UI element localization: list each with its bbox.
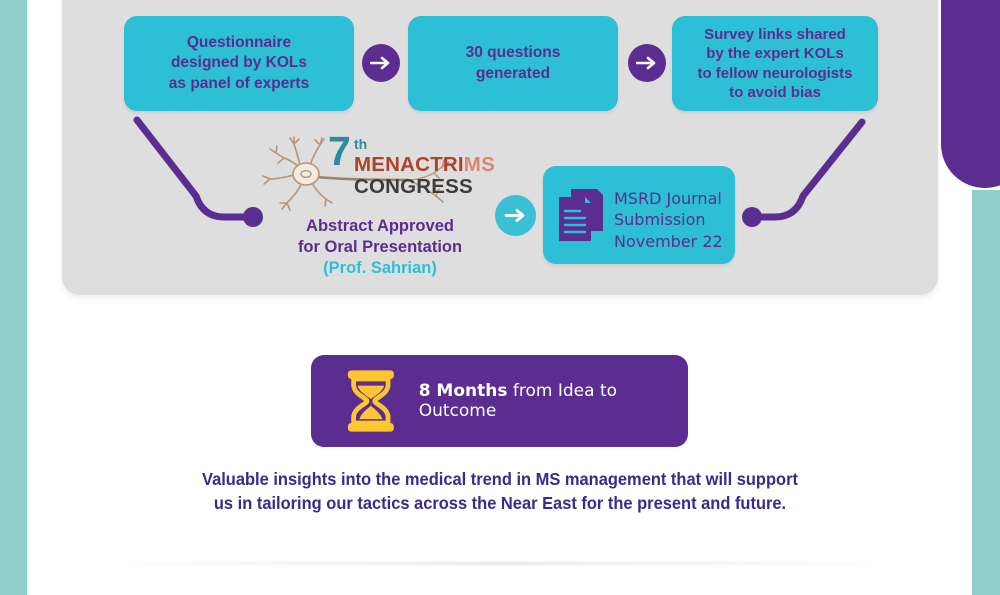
process-card-1-text: Questionnaire designed by KOLs as panel …	[169, 33, 309, 93]
logo-ordinal-suffix: th	[354, 137, 367, 151]
closing-statement-line-1: Valuable insights into the medical trend…	[124, 468, 876, 492]
card-1-line-2: designed by KOLs	[169, 53, 309, 73]
logo-ordinal-number: 7	[328, 131, 350, 172]
logo-name-congress: CONGRESS	[354, 177, 473, 198]
process-card-2-text: 30 questions generated	[466, 43, 561, 83]
abstract-approval-caption: Abstract Approved for Oral Presentation …	[255, 216, 505, 279]
infographic-stage: Questionnaire designed by KOLs as panel …	[0, 0, 1000, 595]
msrd-line-1: MSRD Journal	[614, 188, 723, 209]
right-teal-edge-bar	[972, 190, 1000, 595]
abstract-line-1: Abstract Approved	[306, 217, 454, 235]
arrow-glyph-3	[504, 207, 528, 224]
arrow-right-icon-3	[495, 195, 536, 236]
process-card-questions[interactable]: 30 questions generated	[408, 16, 618, 111]
arrow-right-icon-2	[628, 44, 666, 82]
arrow-glyph-1	[370, 55, 392, 71]
menactrims-congress-logo: 7 th MENACTRIMS CONGRESS	[258, 133, 498, 213]
process-card-survey-links[interactable]: Survey links shared by the expert KOLs t…	[672, 16, 878, 111]
card-3-line-1: Survey links shared	[697, 25, 852, 45]
card-2-line-1: 30 questions	[466, 43, 561, 63]
duration-banner-text: 8 Months from Idea to Outcome	[419, 381, 688, 421]
msrd-line-2: Submission	[614, 209, 723, 230]
hourglass-icon	[345, 368, 397, 434]
card-1-line-1: Questionnaire	[169, 33, 309, 53]
logo-name-ms: MS	[464, 153, 495, 176]
bottom-divider	[90, 562, 912, 565]
card-3-line-3: to fellow neurologists	[697, 64, 852, 84]
card-3-line-4: to avoid bias	[697, 83, 852, 103]
closing-statement: Valuable insights into the medical trend…	[124, 468, 876, 515]
msrd-card-text: MSRD Journal Submission November 22	[614, 188, 723, 252]
duration-banner[interactable]: 8 Months from Idea to Outcome	[311, 355, 688, 447]
arrow-right-icon-1	[362, 44, 400, 82]
card-3-line-2: by the expert KOLs	[697, 44, 852, 64]
msrd-journal-card[interactable]: MSRD Journal Submission November 22	[543, 166, 735, 264]
left-teal-edge-bar	[0, 0, 27, 595]
msrd-line-3: November 22	[614, 231, 723, 252]
process-card-questionnaire[interactable]: Questionnaire designed by KOLs as panel …	[124, 16, 354, 111]
abstract-line-2: for Oral Presentation	[298, 238, 462, 256]
right-purple-tab-shape	[941, 0, 1000, 188]
closing-statement-line-2: us in tailoring our tactics across the N…	[124, 492, 876, 516]
logo-name-menactri: MENACTRI	[354, 153, 464, 176]
card-2-line-2: generated	[466, 64, 561, 84]
duration-highlight: 8 Months	[419, 381, 508, 401]
abstract-presenter: (Prof. Sahrian)	[255, 258, 505, 279]
card-1-line-3: as panel of experts	[169, 74, 309, 94]
process-card-3-text: Survey links shared by the expert KOLs t…	[697, 25, 852, 103]
logo-name-line: MENACTRIMS	[354, 155, 495, 176]
arrow-glyph-2	[636, 55, 658, 71]
documents-icon	[557, 187, 605, 243]
